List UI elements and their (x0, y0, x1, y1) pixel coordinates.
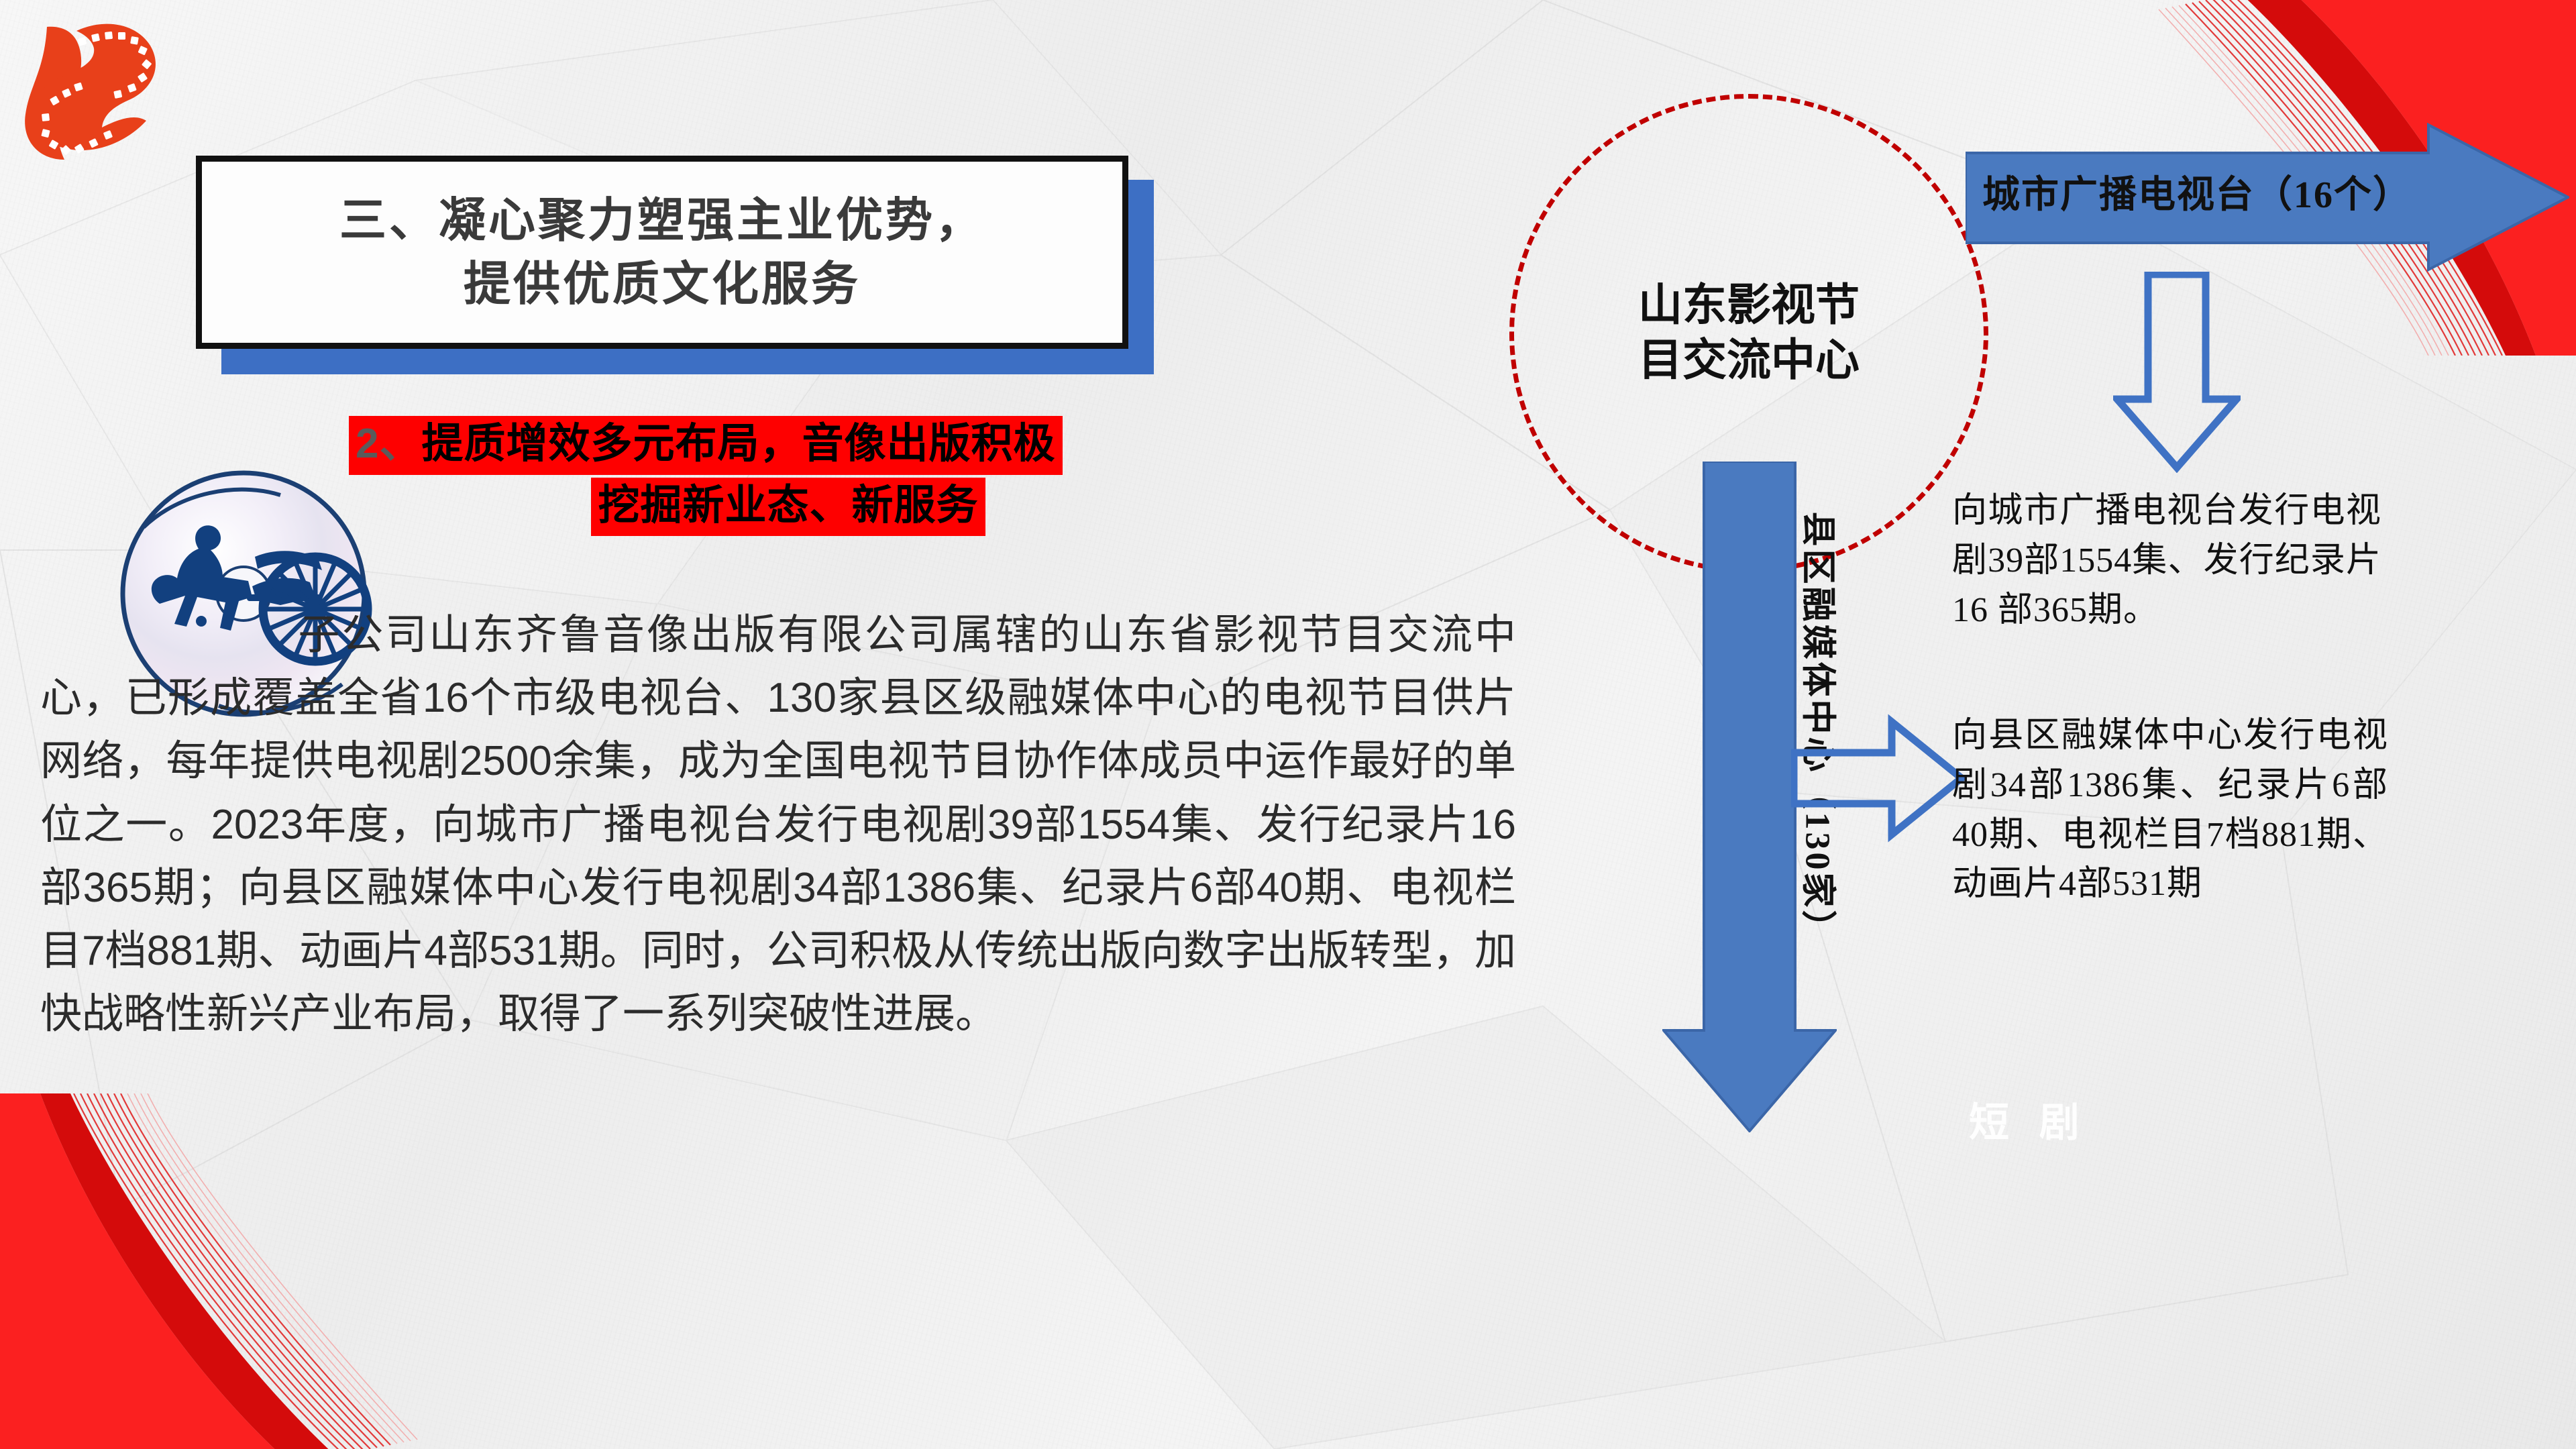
title-line-1: 三、凝心聚力塑强主业优势， (339, 192, 985, 249)
arrow-hollow-down-icon (2113, 272, 2241, 473)
branch-bottom-note: 向县区融媒体中心发行电视剧34部1386集、纪录片6部40期、电视栏目7档881… (1952, 711, 2388, 909)
page-title: 三、凝心聚力塑强主业优势， 提供优质文化服务 (196, 156, 1128, 349)
branch-top-label: 城市广播电视台（16个） (1982, 164, 2499, 219)
section-subtitle: 2、提质增效多元布局，音像出版积极 挖掘新业态、新服务 (349, 416, 1228, 536)
swoosh-decor-icon (0, 1093, 503, 1449)
slide-canvas: 三、凝心聚力塑强主业优势， 提供优质文化服务 2、提质增效多元布局，音像出版积极… (0, 0, 2576, 1449)
subtitle-line-2: 挖掘新业态、新服务 (591, 478, 985, 537)
subtitle-number: 2、 (356, 421, 421, 467)
subtitle-line-1: 2、提质增效多元布局，音像出版积极 (349, 416, 1063, 475)
distribution-diagram: 山东影视节 目交流中心 城市广播电视台（16个） 县区融媒体中心（130家） 向… (1489, 40, 2576, 1248)
subtitle-text-1: 提质增效多元布局，音像出版积极 (421, 421, 1055, 467)
arrow-hollow-right-icon (1791, 711, 1966, 845)
branch-top-note: 向城市广播电视台发行电视剧39部1554集、发行纪录片16 部365期。 (1952, 486, 2381, 635)
diagram-watermark: 短 剧 (1969, 1090, 2089, 1148)
body-paragraph: 子公司山东齐鲁音像出版有限公司属辖的山东省影视节目交流中心，已形成覆盖全省16个… (40, 604, 1516, 1046)
center-node-label: 山东影视节 目交流中心 (1638, 278, 1860, 389)
title-line-2: 提供优质文化服务 (464, 256, 861, 313)
